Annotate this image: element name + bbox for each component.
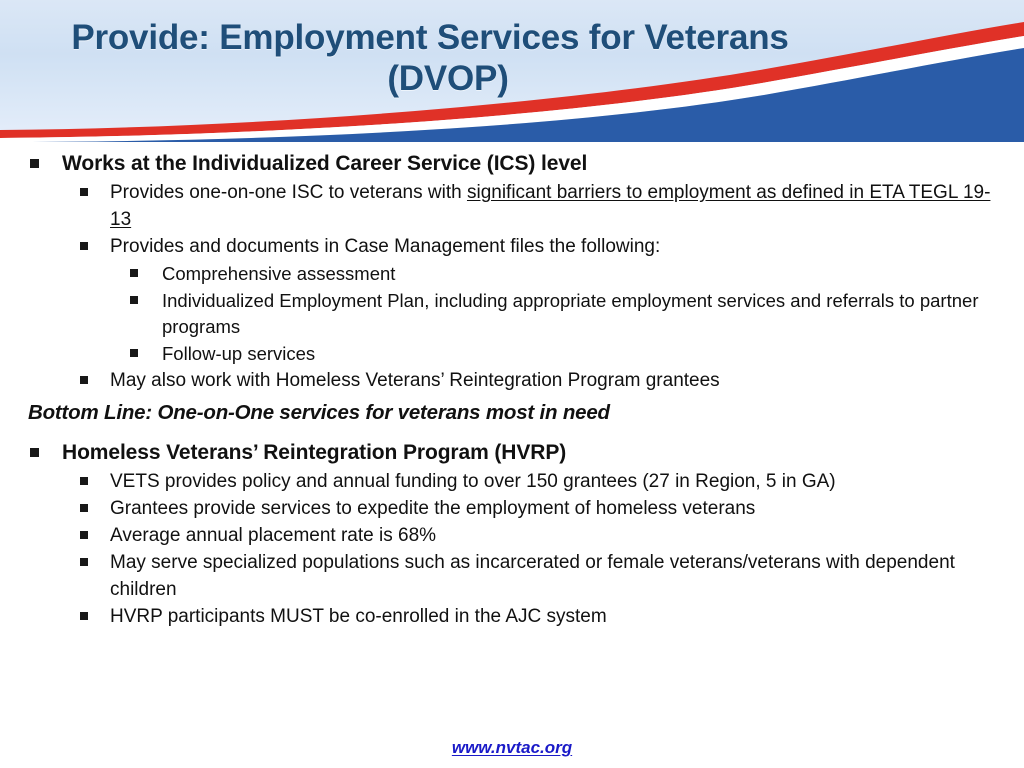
bullet-l2-label: Provides one-on-one ISC to veterans with… [110, 180, 1024, 234]
bottom-line-callout: Bottom Line: One-on-One services for vet… [0, 401, 1024, 425]
bullet-l3-comprehensive-assessment: Comprehensive assessment [0, 261, 1024, 288]
bullet-l2-average-placement-rate: Average annual placement rate is 68% [0, 523, 1024, 550]
bullet-l2-specialized-populations: May serve specialized populations such a… [0, 550, 1024, 604]
square-bullet-icon [80, 550, 110, 566]
bullet-l2-text-prefix: Provides one-on-one ISC to veterans with [110, 182, 467, 203]
bullet-l2-label: VETS provides policy and annual funding … [110, 469, 1024, 496]
square-bullet-icon [80, 604, 110, 620]
bullet-l2-grantees-provide-services: Grantees provide services to expedite th… [0, 496, 1024, 523]
bullet-l2-provides-and-documents: Provides and documents in Case Managemen… [0, 234, 1024, 261]
bullet-l2-label: Grantees provide services to expedite th… [110, 496, 1024, 523]
bullet-l2-hvrp-co-enrolled-ajc: HVRP participants MUST be co-enrolled in… [0, 604, 1024, 631]
bullet-l3-individualized-employment-plan: Individualized Employment Plan, includin… [0, 288, 1024, 342]
slide-title-line-2: (DVOP) [0, 59, 860, 100]
square-bullet-icon [30, 150, 62, 168]
bullet-l2-label: May serve specialized populations such a… [110, 550, 1024, 604]
bullet-l3-follow-up-services: Follow-up services [0, 341, 1024, 368]
bullet-l2-label: HVRP participants MUST be co-enrolled in… [110, 604, 1024, 631]
slide: Provide: Employment Services for Veteran… [0, 0, 1024, 768]
bullet-l2-label: May also work with Homeless Veterans’ Re… [110, 368, 1024, 395]
square-bullet-icon [130, 261, 162, 277]
nvtac-website-link[interactable]: www.nvtac.org [452, 738, 572, 757]
square-bullet-icon [130, 288, 162, 304]
square-bullet-icon [80, 234, 110, 250]
square-bullet-icon [30, 439, 62, 457]
slide-footer: www.nvtac.org [0, 738, 1024, 758]
bullet-l1-label: Works at the Individualized Career Servi… [62, 150, 1024, 178]
square-bullet-icon [80, 368, 110, 384]
square-bullet-icon [80, 180, 110, 196]
bullet-l2-label: Provides and documents in Case Managemen… [110, 234, 1024, 261]
square-bullet-icon [80, 469, 110, 485]
slide-title: Provide: Employment Services for Veteran… [0, 18, 860, 100]
bullet-l3-label: Comprehensive assessment [162, 261, 1024, 288]
bullet-l2-vets-provides-policy: VETS provides policy and annual funding … [0, 469, 1024, 496]
bullet-l2-provides-one-on-one: Provides one-on-one ISC to veterans with… [0, 180, 1024, 234]
bullet-l2-label: Average annual placement rate is 68% [110, 523, 1024, 550]
bullet-l2-may-also-work-hvrp: May also work with Homeless Veterans’ Re… [0, 368, 1024, 395]
slide-title-line-1: Provide: Employment Services for Veteran… [0, 18, 860, 59]
square-bullet-icon [80, 496, 110, 512]
bullet-l3-label: Follow-up services [162, 341, 1024, 368]
bullet-l1-hvrp: Homeless Veterans’ Reintegration Program… [0, 439, 1024, 467]
bullet-l1-label: Homeless Veterans’ Reintegration Program… [62, 439, 1024, 467]
bullet-l1-works-at-ics: Works at the Individualized Career Servi… [0, 150, 1024, 178]
bullet-l3-label: Individualized Employment Plan, includin… [162, 288, 1024, 342]
slide-body: Works at the Individualized Career Servi… [0, 150, 1024, 730]
square-bullet-icon [80, 523, 110, 539]
square-bullet-icon [130, 341, 162, 357]
slide-header-banner: Provide: Employment Services for Veteran… [0, 0, 1024, 142]
